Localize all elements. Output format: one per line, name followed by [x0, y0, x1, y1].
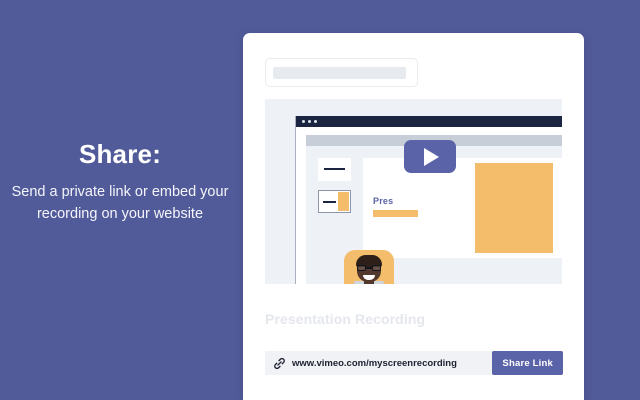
- promo-body: Send a private link or embed your record…: [0, 181, 240, 226]
- window-dot-maximize: [314, 120, 317, 123]
- glasses-icon: [357, 265, 381, 271]
- slide-accent-bar: [373, 210, 418, 217]
- window-dot-close: [302, 120, 305, 123]
- slide-thumbnail-1: [318, 158, 351, 181]
- link-icon: [271, 355, 287, 371]
- presentation-slide: Pres: [363, 158, 562, 258]
- search-input[interactable]: [265, 58, 418, 87]
- promo-copy: Share: Send a private link or embed your…: [0, 140, 240, 226]
- recording-title: Presentation Recording: [265, 311, 425, 327]
- browser-titlebar: [296, 116, 562, 127]
- slide-title: Pres: [373, 196, 393, 206]
- slide-image-block: [475, 163, 553, 253]
- search-placeholder-bar: [273, 67, 406, 79]
- share-url-bar[interactable]: www.vimeo.com/myscreenrecording Share Li…: [265, 351, 563, 375]
- play-triangle: [424, 148, 439, 166]
- share-card: Pres: [243, 33, 584, 400]
- share-promo-screen: Share: Send a private link or embed your…: [0, 0, 640, 400]
- video-thumbnail[interactable]: Pres: [265, 99, 562, 284]
- share-url-text: www.vimeo.com/myscreenrecording: [292, 358, 457, 369]
- slide-thumbnail-2: [318, 190, 351, 213]
- presenter-webcam: [344, 250, 394, 284]
- share-link-button[interactable]: Share Link: [492, 351, 563, 375]
- play-icon[interactable]: [404, 140, 456, 173]
- window-dot-minimize: [308, 120, 311, 123]
- promo-title: Share:: [0, 140, 240, 169]
